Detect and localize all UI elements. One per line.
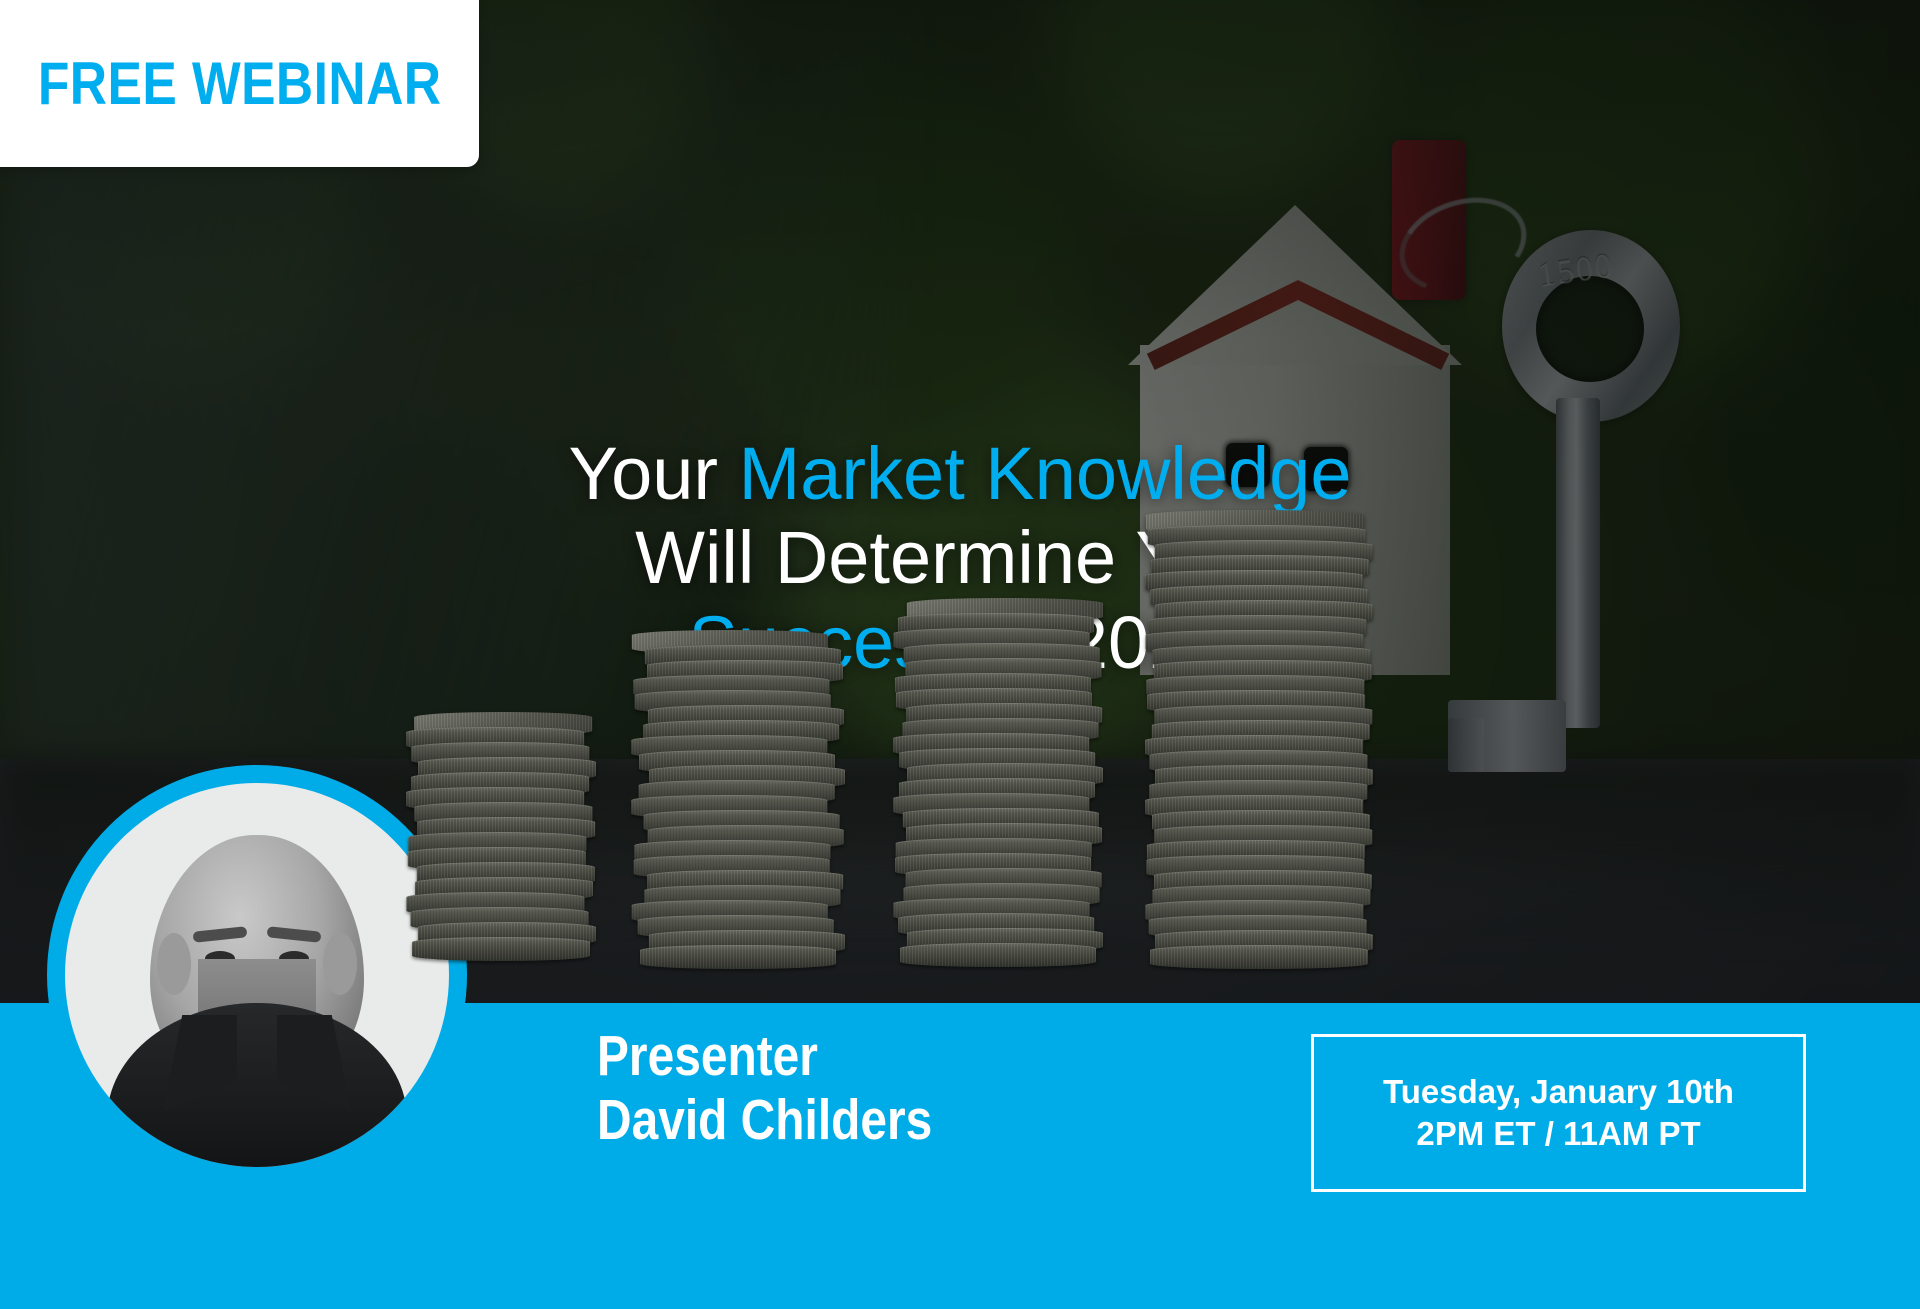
avatar xyxy=(47,765,467,1185)
presenter-name: David Childers xyxy=(597,1088,932,1152)
free-webinar-badge: FREE WEBINAR xyxy=(0,0,479,167)
coin xyxy=(640,945,836,969)
headline-line-1-accent: Market Knowledge xyxy=(739,432,1352,515)
webinar-promo-banner: 1500 FREE WEBINAR Your Market Knowledge … xyxy=(0,0,1920,1309)
avatar-ear-left xyxy=(157,933,191,995)
avatar-ear-right xyxy=(323,933,357,995)
coin xyxy=(900,943,1096,967)
avatar-portrait xyxy=(65,783,449,1167)
headline-line-2: Will Determine Your xyxy=(0,516,1920,600)
schedule-time: 2PM ET / 11AM PT xyxy=(1416,1113,1700,1155)
coin xyxy=(1150,945,1368,969)
schedule-box: Tuesday, January 10th 2PM ET / 11AM PT xyxy=(1311,1034,1806,1192)
presenter-role-label: Presenter xyxy=(597,1024,932,1088)
schedule-date: Tuesday, January 10th xyxy=(1383,1071,1734,1113)
presenter-block: Presenter David Childers xyxy=(597,1024,932,1153)
headline-line-1-white: Your xyxy=(569,432,739,515)
coin xyxy=(412,937,590,961)
headline-line-1: Your Market Knowledge xyxy=(0,432,1920,516)
free-webinar-badge-label: FREE WEBINAR xyxy=(38,49,442,118)
avatar-shirt xyxy=(107,1003,407,1167)
